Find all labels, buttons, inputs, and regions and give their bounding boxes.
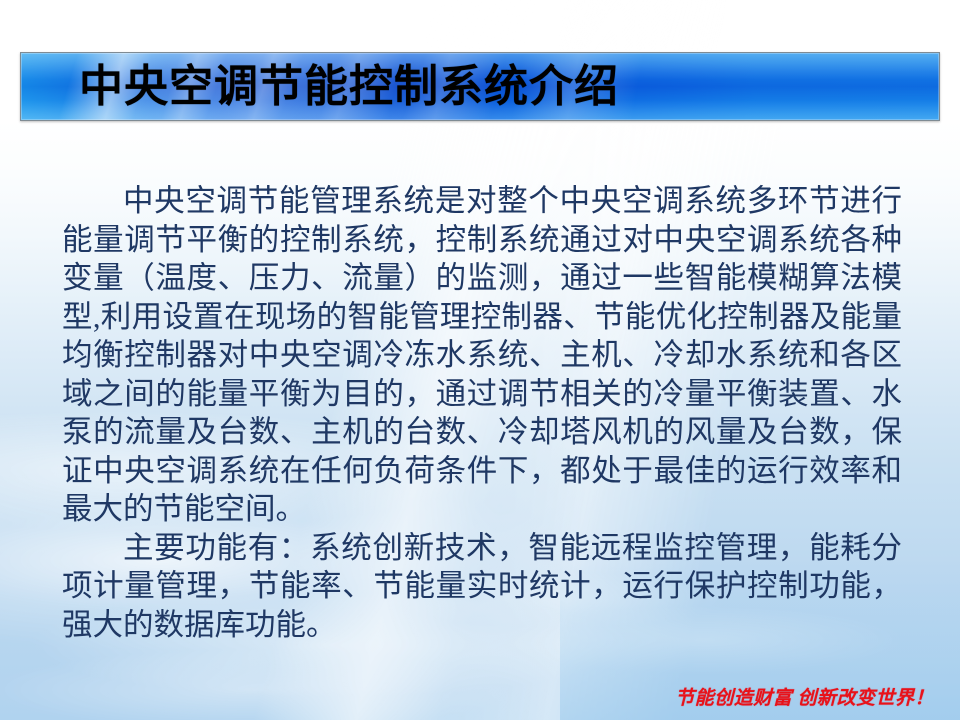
paragraph-intro: 中央空调节能管理系统是对整个中央空调系统多环节进行能量调节平衡的控制系统，控制系… <box>62 182 902 529</box>
title-banner: 中央空调节能控制系统介绍 <box>20 52 940 121</box>
paragraph-features: 主要功能有：系统创新技术，智能远程监控管理，能耗分项计量管理，节能率、节能量实时… <box>62 529 902 645</box>
page-title: 中央空调节能控制系统介绍 <box>21 53 939 120</box>
body-copy: 中央空调节能管理系统是对整个中央空调系统多环节进行能量调节平衡的控制系统，控制系… <box>62 182 902 644</box>
footer-slogan: 节能创造财富 创新改变世界！ <box>675 688 934 710</box>
slide-root: 中央空调节能控制系统介绍 中央空调节能管理系统是对整个中央空调系统多环节进行能量… <box>0 0 960 720</box>
